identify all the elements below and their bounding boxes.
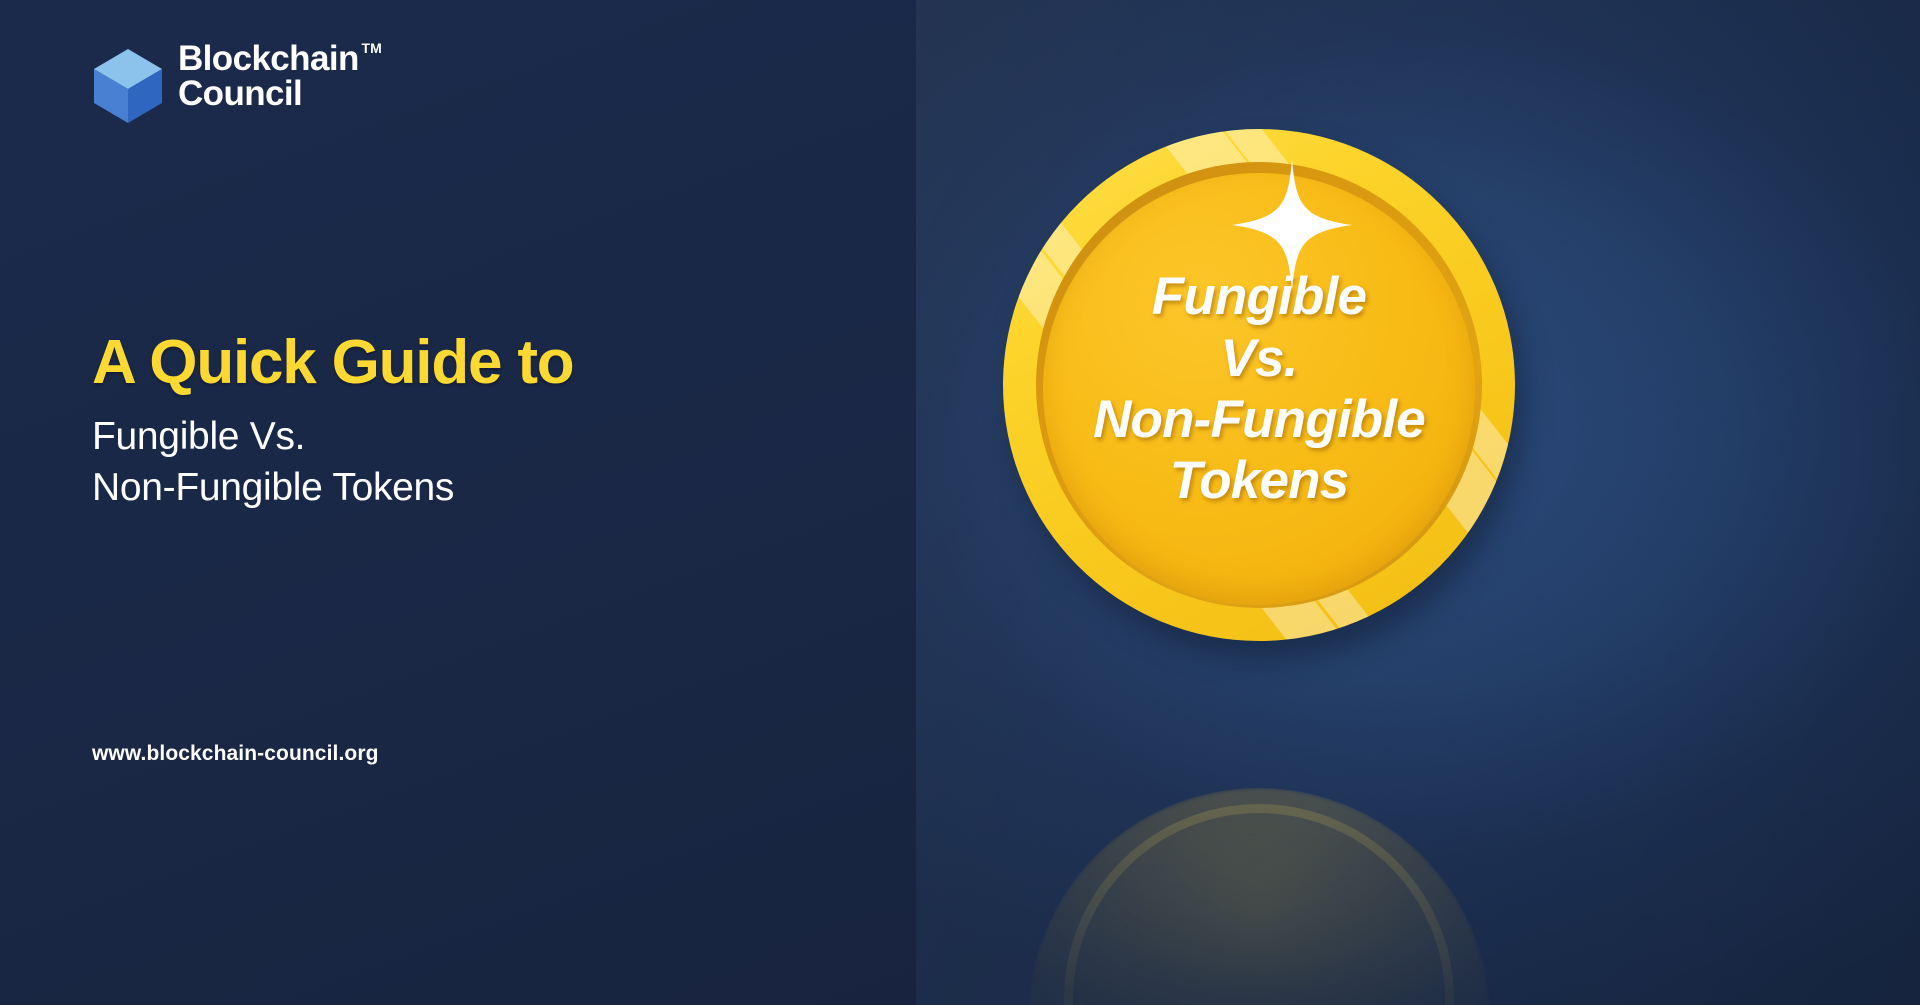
website-url[interactable]: www.blockchain-council.org: [92, 742, 379, 766]
trademark-mark: TM: [362, 40, 382, 56]
brand-name-line1: Blockchain: [178, 39, 359, 78]
coin-label: Fungible Vs. Non-Fungible Tokens: [1043, 173, 1475, 605]
coin-line-2: Vs.: [1220, 328, 1297, 389]
brand-wordmark: Blockchain TM Council: [178, 40, 359, 111]
headline-block: A Quick Guide to Fungible Vs. Non-Fungib…: [92, 330, 573, 513]
coin-line-1: Fungible: [1152, 266, 1366, 327]
coin-line-3: Non-Fungible: [1093, 389, 1425, 450]
subtitle-line-1: Fungible Vs.: [92, 412, 573, 463]
coin-line-4: Tokens: [1170, 450, 1349, 511]
brand-logo[interactable]: Blockchain TM Council: [92, 40, 359, 125]
brand-name-line2: Council: [178, 77, 359, 112]
page-title: A Quick Guide to: [92, 330, 573, 395]
banner-graphic: Blockchain TM Council A Quick Guide to F…: [0, 0, 1920, 1005]
gold-coin-icon: Fungible Vs. Non-Fungible Tokens: [1003, 129, 1515, 641]
subtitle-line-2: Non-Fungible Tokens: [92, 463, 573, 514]
blockchain-cube-icon: [92, 47, 164, 125]
